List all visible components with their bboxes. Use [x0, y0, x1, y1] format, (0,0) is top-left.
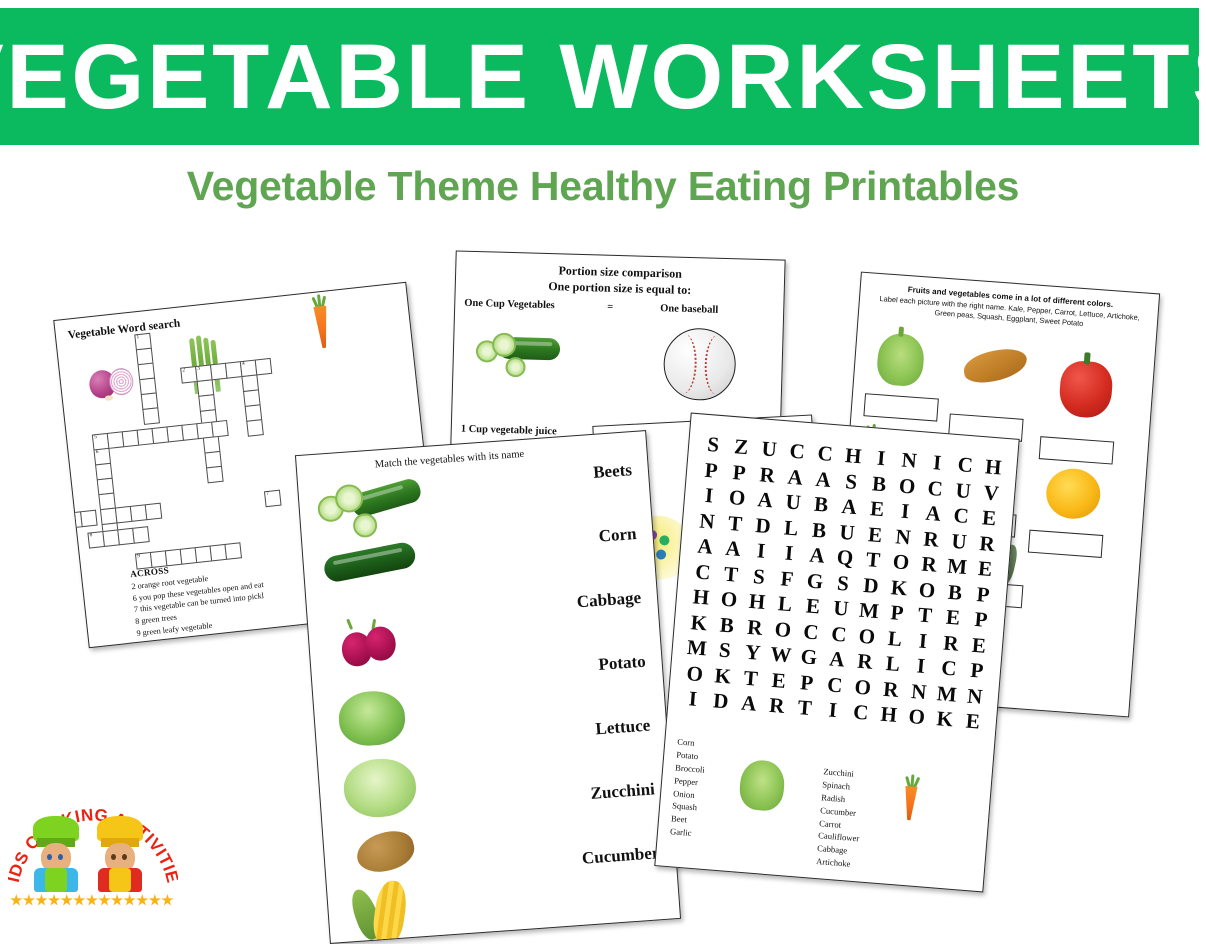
word-search-letter[interactable]: N [694, 509, 720, 534]
word-search-letter[interactable]: I [820, 698, 846, 723]
word-list-item: Artichoke [816, 855, 858, 871]
word-search-word-list: CornPotatoBroccoliPepperOnionSquashBeetG… [658, 735, 993, 861]
word-search-letter[interactable]: I [868, 446, 894, 471]
word-search-letter[interactable]: C [826, 622, 852, 647]
cabbage-icon [342, 756, 418, 819]
word-search-letter[interactable]: P [698, 458, 724, 483]
corn-icon [353, 878, 427, 944]
word-search-letter[interactable]: A [804, 543, 830, 568]
crossword-cell-number: 9 [137, 553, 140, 559]
word-search-letter[interactable]: O [914, 578, 940, 603]
word-search-letter[interactable]: M [934, 682, 960, 707]
star-icon [48, 894, 61, 907]
word-search-letter[interactable]: A [824, 647, 850, 672]
word-search-letter[interactable]: A [782, 465, 808, 490]
crossword-cell-number: 8 [89, 532, 92, 538]
word-search-letter[interactable]: C [848, 700, 874, 725]
match-name[interactable]: Corn [598, 524, 637, 547]
word-search-letter[interactable]: K [686, 611, 712, 636]
word-search-letter[interactable]: A [720, 536, 746, 561]
word-search-letter[interactable]: U [946, 529, 972, 554]
word-search-letter[interactable]: F [774, 566, 800, 591]
word-search-letter[interactable]: E [972, 557, 998, 582]
word-search-letter[interactable]: H [744, 590, 770, 615]
word-search-letter[interactable]: M [944, 554, 970, 579]
word-search-grid[interactable]: SZUCCHINICHPPRAASBOCUVIOAUBAEIACENTDLBUE… [680, 432, 1007, 736]
artichoke-icon [738, 759, 786, 812]
word-search-letter[interactable]: W [768, 643, 794, 668]
worksheet-word-search[interactable]: SZUCCHINICHPPRAASBOCUVIOAUBAEIACENTDLBUE… [654, 412, 1019, 892]
word-search-letter[interactable]: I [776, 541, 802, 566]
crossword-cell-number: 6 [95, 449, 98, 455]
crossword-cell-number: 1 [136, 334, 139, 340]
portion-row-left: One Cup Vegetables [464, 298, 555, 312]
cucumber-icon [316, 477, 430, 549]
word-search-letter[interactable]: I [680, 687, 706, 712]
word-search-letter[interactable]: A [920, 501, 946, 526]
word-search-letter[interactable]: L [882, 626, 908, 651]
cucumber-icon [475, 330, 567, 392]
worksheet-matching[interactable]: Match the vegetables with its name Beets… [295, 430, 681, 944]
star-icon [60, 894, 73, 907]
word-search-letter[interactable]: L [880, 652, 906, 677]
word-search-letter[interactable]: I [924, 451, 950, 476]
word-search-letter[interactable]: N [896, 448, 922, 473]
word-search-letter[interactable]: L [778, 516, 804, 541]
word-search-letter[interactable]: R [878, 677, 904, 702]
word-search-letter[interactable]: U [756, 437, 782, 462]
word-search-letter[interactable]: A [752, 488, 778, 513]
word-search-letter[interactable]: S [838, 469, 864, 494]
word-search-letter[interactable]: P [970, 582, 996, 607]
word-search-letter[interactable]: C [936, 656, 962, 681]
crossword-cell-number: 4 [242, 361, 245, 367]
crossword-cell-number: 3 [197, 366, 200, 372]
word-search-letter[interactable]: Y [740, 640, 766, 665]
word-search-letter[interactable]: E [800, 594, 826, 619]
word-search-letter[interactable]: T [718, 562, 744, 587]
word-search-letter[interactable]: P [884, 601, 910, 626]
star-icon [10, 894, 23, 907]
word-search-letter[interactable]: O [716, 587, 742, 612]
crossword-cell-number: 7 [266, 491, 269, 497]
portion-row-equals: = [607, 302, 613, 313]
portion-title: Portion size comparison One portion size… [456, 259, 785, 301]
word-search-letter[interactable]: O [904, 705, 930, 730]
answer-box[interactable] [1039, 436, 1114, 464]
word-search-letter[interactable]: I [696, 483, 722, 508]
portion-row-left: 1 Cup vegetable juice [461, 424, 557, 438]
match-name[interactable]: Potato [598, 652, 647, 675]
artichoke-icon [876, 332, 926, 387]
word-list-item: Garlic [670, 825, 701, 840]
word-search-letter[interactable]: D [858, 573, 884, 598]
word-search-letter[interactable]: C [952, 453, 978, 478]
word-search-letter[interactable]: S [830, 571, 856, 596]
match-name[interactable]: Beets [593, 460, 633, 483]
star-icon [73, 894, 86, 907]
logo-stars [10, 894, 176, 916]
star-icon [35, 894, 48, 907]
word-search-letter[interactable]: R [742, 615, 768, 640]
word-search-letter[interactable]: R [754, 462, 780, 487]
word-search-letter[interactable]: R [916, 552, 942, 577]
word-search-letter[interactable]: V [978, 480, 1004, 505]
word-search-letter[interactable]: S [746, 564, 772, 589]
word-search-letter[interactable]: C [690, 560, 716, 585]
word-search-letter[interactable]: C [822, 673, 848, 698]
word-search-letter[interactable]: L [772, 592, 798, 617]
word-search-letter[interactable]: P [968, 608, 994, 633]
word-search-letter[interactable]: S [712, 638, 738, 663]
word-search-letter[interactable]: C [922, 476, 948, 501]
word-search-letter[interactable]: D [750, 513, 776, 538]
word-search-letter[interactable]: U [828, 596, 854, 621]
word-search-letter[interactable]: A [692, 534, 718, 559]
star-icon [161, 894, 174, 907]
word-search-letter[interactable]: E [862, 522, 888, 547]
word-search-letter[interactable]: O [770, 617, 796, 642]
word-search-letter[interactable]: O [888, 550, 914, 575]
sweet-potato-icon [961, 345, 1029, 385]
word-search-letter[interactable]: O [854, 624, 880, 649]
portion-row-right: One baseball [660, 303, 718, 316]
word-search-letter[interactable]: O [850, 675, 876, 700]
word-search-letter[interactable]: E [766, 668, 792, 693]
word-search-letter[interactable]: I [910, 629, 936, 654]
match-name[interactable]: Cabbage [576, 588, 641, 613]
star-icon [86, 894, 99, 907]
page-title: VEGETABLE WORKSHEETS [0, 31, 1206, 123]
word-search-letter[interactable]: T [722, 511, 748, 536]
word-search-letter[interactable]: N [962, 684, 988, 709]
word-search-letter[interactable]: H [876, 703, 902, 728]
word-search-letter[interactable]: T [912, 603, 938, 628]
word-search-letter[interactable]: I [748, 539, 774, 564]
chef-boy-avatar [30, 816, 82, 890]
word-search-letter[interactable]: R [918, 527, 944, 552]
word-search-letter[interactable]: B [806, 518, 832, 543]
word-search-letter[interactable]: A [810, 467, 836, 492]
word-search-letter[interactable]: P [794, 670, 820, 695]
word-search-letter[interactable]: C [948, 504, 974, 529]
star-icon [149, 894, 162, 907]
carrot-icon [307, 295, 337, 355]
word-search-letter[interactable]: Z [728, 435, 754, 460]
word-search-letter[interactable]: O [724, 486, 750, 511]
word-search-letter[interactable]: R [852, 649, 878, 674]
word-search-letter[interactable]: N [906, 679, 932, 704]
header-banner: VEGETABLE WORKSHEETS [0, 8, 1199, 145]
match-name[interactable]: Lettuce [595, 716, 651, 740]
word-search-letter[interactable]: O [894, 474, 920, 499]
star-icon [23, 894, 36, 907]
answer-box[interactable] [1028, 530, 1103, 558]
word-search-letter[interactable]: B [866, 471, 892, 496]
answer-box[interactable] [863, 393, 938, 421]
word-search-letter[interactable]: R [974, 531, 1000, 556]
red-pepper-icon [1058, 360, 1114, 420]
yellow-squash-icon [1045, 467, 1103, 521]
word-search-letter[interactable]: U [950, 478, 976, 503]
word-search-letter[interactable]: P [726, 460, 752, 485]
word-search-letter[interactable]: U [780, 490, 806, 515]
word-search-letter[interactable]: C [798, 620, 824, 645]
match-name[interactable]: Zucchini [590, 779, 656, 804]
crossword-title: Vegetable Word search [67, 317, 181, 341]
word-search-letter[interactable]: I [892, 499, 918, 524]
lettuce-icon [337, 689, 407, 748]
word-search-letter[interactable]: Q [832, 545, 858, 570]
word-search-letter[interactable]: T [792, 696, 818, 721]
star-icon [136, 894, 149, 907]
word-search-letter[interactable]: D [708, 689, 734, 714]
star-icon [111, 894, 124, 907]
star-icon [98, 894, 111, 907]
word-search-letter[interactable]: R [764, 694, 790, 719]
word-search-letter[interactable]: S [700, 432, 726, 457]
carrot-icon [900, 776, 921, 819]
word-search-letter[interactable]: E [966, 633, 992, 658]
word-list-column-1: CornPotatoBroccoliPepperOnionSquashBeetG… [670, 736, 708, 841]
word-search-letter[interactable]: H [980, 455, 1006, 480]
potato-icon [353, 826, 419, 877]
word-search-letter[interactable]: E [960, 709, 986, 734]
star-icon [123, 894, 136, 907]
word-search-letter[interactable]: H [840, 444, 866, 469]
word-list-column-2: ZucchiniSpinachRadishCucumberCarrotCauli… [816, 765, 865, 871]
crossword-cell-number: 2 [182, 367, 185, 373]
word-search-letter[interactable]: K [886, 575, 912, 600]
word-search-letter[interactable]: K [932, 707, 958, 732]
word-search-letter[interactable]: G [796, 645, 822, 670]
word-search-letter[interactable]: C [784, 439, 810, 464]
word-search-letter[interactable]: N [890, 525, 916, 550]
word-search-letter[interactable]: A [836, 495, 862, 520]
word-search-letter[interactable]: T [738, 666, 764, 691]
chef-girl-avatar [94, 816, 146, 890]
page-subtitle: Vegetable Theme Healthy Eating Printable… [0, 163, 1206, 210]
match-name[interactable]: Cucumber [581, 843, 660, 868]
word-search-letter[interactable]: A [736, 691, 762, 716]
word-search-letter[interactable]: O [682, 661, 708, 686]
brand-logo[interactable]: KIDS COOKING ACTIVITIES [8, 786, 178, 928]
beets-icon [332, 615, 412, 684]
word-search-letter[interactable]: K [710, 664, 736, 689]
word-search-letter[interactable]: T [860, 548, 886, 573]
word-search-letter[interactable]: M [684, 636, 710, 661]
colors-instructions: Fruits and vegetables come in a lot of d… [869, 281, 1151, 334]
word-search-letter[interactable]: B [714, 613, 740, 638]
word-search-letter[interactable]: C [812, 441, 838, 466]
word-search-letter[interactable]: M [856, 599, 882, 624]
word-search-letter[interactable]: E [864, 497, 890, 522]
matching-title: Match the vegetables with its name [374, 449, 524, 471]
word-search-letter[interactable]: B [808, 492, 834, 517]
word-search-letter[interactable]: E [940, 605, 966, 630]
word-search-letter[interactable]: E [976, 506, 1002, 531]
word-search-letter[interactable]: G [802, 569, 828, 594]
word-search-letter[interactable]: B [942, 580, 968, 605]
word-search-letter[interactable]: R [938, 631, 964, 656]
word-search-letter[interactable]: P [964, 658, 990, 683]
word-search-letter[interactable]: U [834, 520, 860, 545]
crossword-cell-number: 5 [94, 434, 97, 440]
word-search-letter[interactable]: I [908, 654, 934, 679]
word-search-letter[interactable]: H [688, 585, 714, 610]
